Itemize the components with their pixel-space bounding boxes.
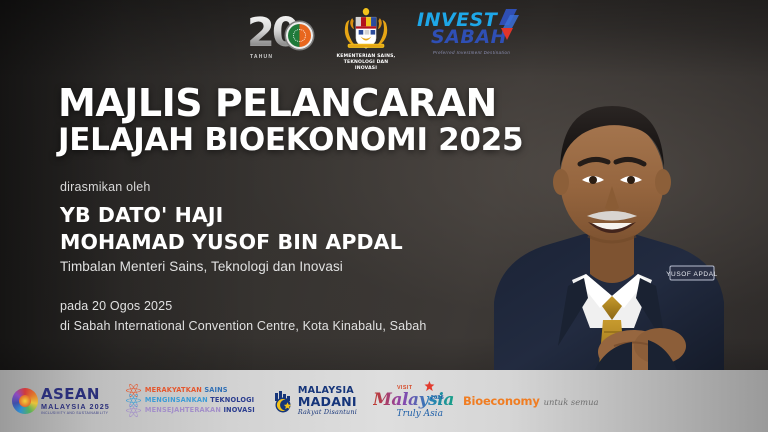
officiator-role: Timbalan Menteri Sains, Teknologi dan In… [60, 259, 403, 274]
event-venue: di Sabah International Convention Centre… [60, 316, 427, 336]
visit-malaysia-tagline: Truly Asia [397, 409, 443, 419]
visit-malaysia-logo: VISIT Malaysia 2026 Truly Asia [373, 384, 447, 418]
ministry-name-line2: TEKNOLOGI DAN INOVASI [333, 60, 399, 72]
top-logo-strip: 20 TAHUN [0, 8, 768, 78]
event-date: pada 20 Ogos 2025 [60, 296, 427, 316]
mosti-line3-a: MENSEJAHTERAKAN [145, 406, 224, 414]
event-datetime-venue: pada 20 Ogos 2025 di Sabah International… [60, 296, 427, 337]
invest-sabah-tagline: Preferred Investment Destination [433, 50, 521, 55]
name-badge: YUSOF APDAL [666, 266, 718, 280]
headline-line2: JELAJAH BIOEKONOMI 2025 [58, 122, 523, 160]
bioeconomy-tagline: untuk semua [544, 397, 599, 407]
mosti-slogan-logo: MERAKYATKAN SAINS MENGINSANKAN TEKNOLOGI… [126, 386, 255, 416]
mosti-line1-b: SAINS [204, 386, 227, 394]
twenty-years-logo: 20 TAHUN [247, 8, 315, 64]
jata-negara-crest-icon [338, 8, 394, 52]
mosti-line2-b: TEKNOLOGI [210, 396, 254, 404]
asean-subtitle: MALAYSIA 2025 [41, 402, 110, 411]
madani-line3: Rakyat Disantuni [298, 408, 357, 416]
asean-malaysia-logo: ASEAN MALAYSIA 2025 INCLUSIVITY AND SUST… [12, 387, 110, 414]
mosti-line2-a: MENGINSANKAN [145, 396, 210, 404]
malaysia-madani-logo: MALAYSIA MADANI Rakyat Disantuni [271, 386, 357, 416]
mosti-line1-a: MERAKYATKAN [145, 386, 204, 394]
mosti-line3-b: INOVASI [223, 406, 254, 414]
headline-line1: MAJLIS PELANCARAN [58, 84, 523, 122]
twenty-years-seal-icon [286, 22, 313, 49]
twenty-years-subtitle: TAHUN [250, 54, 273, 60]
officiator-kicker: dirasmikan oleh [60, 180, 403, 194]
event-poster: 20 TAHUN [0, 0, 768, 432]
svg-text:YUSOF APDAL: YUSOF APDAL [666, 271, 718, 278]
bioeconomy-word: Bioeconomy [463, 394, 540, 408]
madani-crescent-star-icon [271, 389, 295, 413]
officiator-name-line1: YB DATO' HAJI [60, 202, 403, 229]
asean-title: ASEAN [41, 387, 110, 401]
invest-sabah-logo: INVEST SABAH Preferred Investment Destin… [417, 8, 521, 55]
madani-line2: MADANI [298, 396, 357, 408]
invest-sabah-mark-icon [493, 8, 519, 42]
poster-headline: MAJLIS PELANCARAN JELAJAH BIOEKONOMI 202… [58, 84, 523, 160]
visit-malaysia-year: 2026 [431, 395, 444, 401]
bottom-logo-bar: ASEAN MALAYSIA 2025 INCLUSIVITY AND SUST… [0, 370, 768, 432]
officiator-details: dirasmikan oleh YB DATO' HAJI MOHAMAD YU… [60, 180, 403, 274]
mosti-atoms-icon [126, 386, 141, 415]
ministry-name: KEMENTERIAN SAINS, TEKNOLOGI DAN INOVASI [333, 54, 399, 72]
asean-swirl-icon [12, 388, 38, 414]
bioeconomy-logo: Bioeconomy untuk semua [463, 394, 599, 408]
ministry-crest-logo: KEMENTERIAN SAINS, TEKNOLOGI DAN INOVASI [333, 8, 399, 72]
asean-tagline: INCLUSIVITY AND SUSTAINABILITY [41, 411, 110, 415]
officiator-name-line2: MOHAMAD YUSOF BIN APDAL [60, 229, 403, 256]
